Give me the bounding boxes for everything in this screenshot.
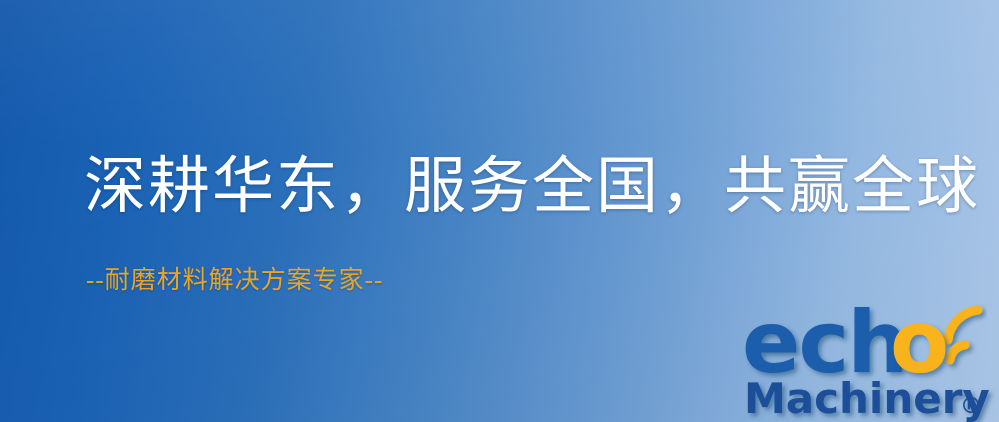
hero-banner: 深耕华东，服务全国，共赢全球 --耐磨材料解决方案专家-- ech o: [0, 0, 999, 422]
banner-subheadline: --耐磨材料解决方案专家--: [86, 266, 383, 296]
signal-wave-icon: [948, 310, 978, 360]
echo-machinery-logo[interactable]: ech o Machinery ®: [742, 296, 999, 422]
banner-headline: 深耕华东，服务全国，共赢全球: [84, 154, 980, 221]
logo-tagline: Machinery: [744, 374, 990, 422]
registered-trademark-icon: ®: [960, 394, 982, 419]
